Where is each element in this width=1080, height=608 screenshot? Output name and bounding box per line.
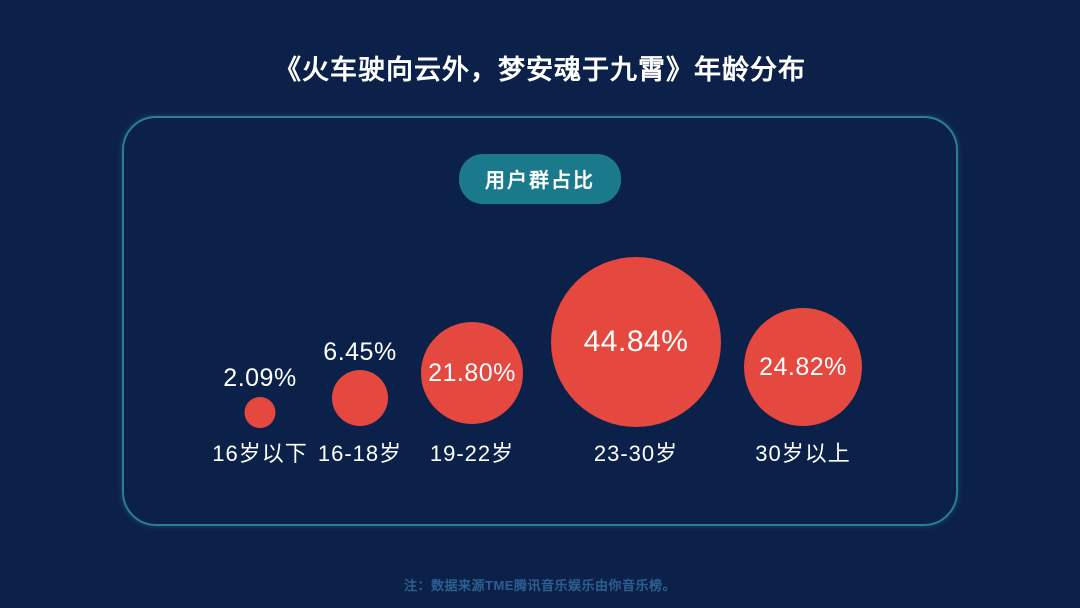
bubble-group-4: 44.84% 23-30岁 (551, 118, 721, 427)
bubble-group-1: 2.09% 16岁以下 (245, 118, 276, 428)
category-label-3: 19-22岁 (430, 436, 514, 468)
source-note: 注：数据来源TME腾讯音乐娱乐由你音乐榜。 (0, 575, 1080, 594)
bubble-1[interactable] (245, 397, 276, 428)
bubble-group-5: 24.82% 30岁以上 (744, 118, 862, 426)
category-label-1: 16岁以下 (212, 436, 307, 468)
category-label-5: 30岁以上 (755, 436, 850, 468)
bubble-value-4: 44.84% (584, 325, 689, 359)
bubble-2[interactable] (332, 370, 388, 426)
bubble-value-5: 24.82% (759, 353, 847, 382)
bubble-value-2: 6.45% (323, 338, 396, 367)
bubble-value-3: 21.80% (428, 359, 516, 388)
category-label-4: 23-30岁 (594, 436, 678, 468)
bubble-value-1: 2.09% (223, 364, 296, 393)
bubble-chart-plot: 2.09% 16岁以下 6.45% 16-18岁 21.80% 19-22岁 4… (124, 118, 960, 528)
bubble-4[interactable]: 44.84% (551, 257, 721, 427)
bubble-5[interactable]: 24.82% (744, 308, 862, 426)
chart-panel: 用户群占比 2.09% 16岁以下 6.45% 16-18岁 21.80% 19… (122, 116, 958, 526)
page-title: 《火车驶向云外，梦安魂于九霄》年龄分布 (0, 48, 1080, 87)
category-label-2: 16-18岁 (318, 436, 402, 468)
bubble-group-2: 6.45% 16-18岁 (332, 118, 388, 426)
bubble-group-3: 21.80% 19-22岁 (421, 118, 523, 424)
bubble-3[interactable]: 21.80% (421, 322, 523, 424)
